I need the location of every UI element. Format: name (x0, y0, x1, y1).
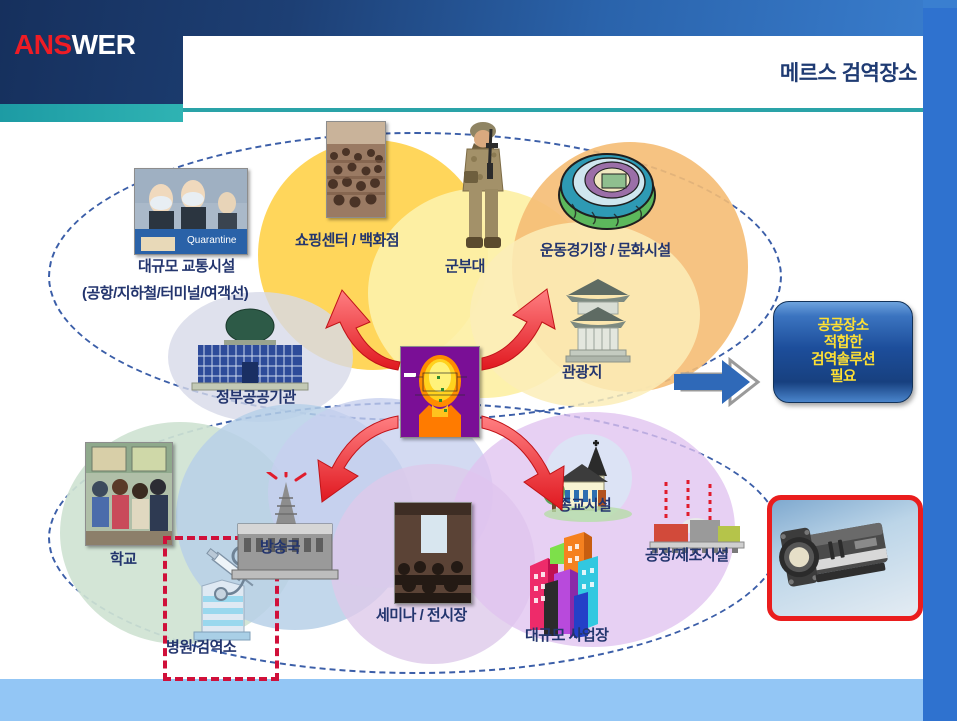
center-thermal-face-scan (400, 346, 480, 438)
label-broadcast: 방송국 (260, 536, 300, 557)
thermal-face-svg (401, 347, 479, 437)
callout-line-1: 공공장소 (811, 318, 875, 335)
school-svg (86, 443, 172, 545)
crowd-svg (327, 122, 385, 217)
parliament-svg (180, 300, 320, 392)
slide-root: ANSWER 메르스 검역장소 (0, 0, 957, 721)
icon-office-buildings-icon (520, 530, 618, 638)
stadium-svg (552, 140, 662, 240)
label-transport: 대규모 교통시설 (138, 255, 235, 276)
icon-broadcast-station-icon (228, 472, 340, 590)
svg-text:Quarantine: Quarantine (187, 235, 237, 246)
solution-callout-text: 공공장소 적합한 검역솔루션 필요 (811, 318, 875, 386)
label-shopping: 쇼핑센터 / 백화점 (295, 229, 399, 250)
diagram-canvas: Quarantine (0, 112, 923, 679)
icon-parliament-building-icon (180, 300, 320, 392)
quarantine-desk-svg: Quarantine (135, 169, 247, 254)
icon-soldier-icon (450, 115, 520, 250)
callout-line-3: 검역솔루션 (811, 352, 875, 369)
thermal-camera-product[interactable] (767, 495, 923, 621)
label-transport-sub: (공항/지하철/터미널/여객선) (82, 282, 248, 303)
brand-logo: ANSWER (14, 31, 135, 59)
label-workplace: 대규모 사업장 (525, 624, 608, 645)
callout-line-2: 적합한 (811, 335, 875, 352)
page-title: 메르스 검역장소 (780, 57, 917, 87)
thermal-camera-svg (772, 500, 908, 606)
icon-quarantine-desk-photo: Quarantine (134, 168, 248, 255)
icon-seminar-hall-photo (394, 502, 472, 604)
brand-logo-red: ANS (14, 29, 72, 60)
label-school: 학교 (110, 548, 137, 569)
flow-arrow-right (660, 344, 778, 422)
icon-school-hallway-photo (85, 442, 173, 546)
callout-line-4: 필요 (811, 369, 875, 386)
label-stadium: 운동경기장 / 문화시설 (540, 239, 671, 260)
right-edge-strip-top (923, 0, 957, 8)
broadcast-svg (228, 472, 340, 590)
solution-callout[interactable]: 공공장소 적합한 검역솔루션 필요 (773, 301, 913, 403)
label-factory: 공장/제조시설 (645, 544, 728, 565)
brand-logo-white: WER (72, 29, 136, 60)
buildings-svg (520, 530, 618, 638)
label-religious: 종교시설 (558, 494, 611, 515)
icon-stadium-icon (552, 140, 662, 240)
icon-pagoda-icon (562, 277, 634, 365)
seminar-svg (395, 503, 471, 603)
icon-crowded-mall-photo (326, 121, 386, 218)
label-hospital: 병원/검역소 (166, 636, 236, 657)
label-seminar: 세미나 / 전시장 (376, 604, 467, 625)
right-edge-strip (923, 0, 957, 721)
footer-bar (0, 679, 923, 721)
soldier-svg (450, 115, 520, 250)
pagoda-svg (562, 277, 634, 365)
label-tourism: 관광지 (562, 361, 602, 382)
label-military: 군부대 (445, 255, 485, 276)
